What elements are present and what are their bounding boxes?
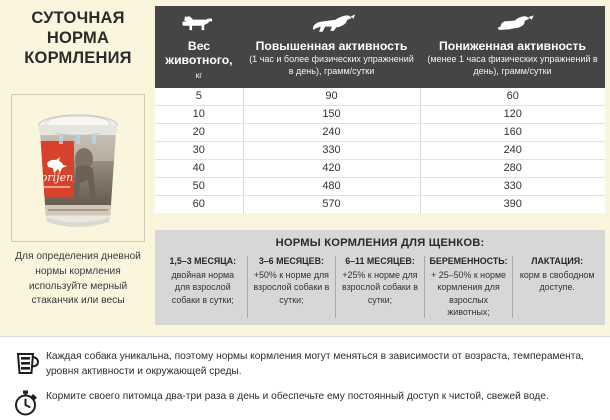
table-row: 30330240	[155, 141, 605, 159]
cell-weight: 60	[155, 195, 243, 213]
left-column: СУТОЧНАЯ НОРМА КОРМЛЕНИЯ	[0, 0, 155, 336]
dog-food-tub-icon: orijen	[26, 101, 130, 235]
puppy-norms-panel: НОРМЫ КОРМЛЕНИЯ ДЛЯ ЩЕНКОВ: 1,5–3 МЕСЯЦА…	[155, 230, 605, 325]
cell-low-activity: 120	[420, 105, 605, 123]
table-row: 10150120	[155, 105, 605, 123]
column-header-high-activity-subtitle: (1 час и более физических упражнений в д…	[247, 54, 416, 77]
puppy-norm-column: 3–6 МЕСЯЦЕВ:+50% к норме для взрослой со…	[248, 256, 337, 318]
cell-high-activity: 480	[243, 177, 420, 195]
cell-low-activity: 280	[420, 159, 605, 177]
puppy-norm-description: корм в свободном доступе.	[517, 269, 597, 294]
cell-low-activity: 160	[420, 123, 605, 141]
page-title: СУТОЧНАЯ НОРМА КОРМЛЕНИЯ	[4, 8, 152, 68]
cell-low-activity: 60	[420, 88, 605, 106]
column-header-high-activity: Повышенная активность (1 час и более физ…	[243, 6, 420, 88]
cell-high-activity: 90	[243, 88, 420, 106]
note-text-frequency: Кормите своего питомца два-три раза в де…	[46, 389, 602, 404]
puppy-norm-age-label: ЛАКТАЦИЯ:	[517, 256, 597, 266]
puppy-norm-age-label: 1,5–3 МЕСЯЦА:	[163, 256, 243, 266]
puppy-norm-column: 6–11 МЕСЯЦЕВ:+25% к норме для взрослой с…	[336, 256, 425, 318]
stopwatch-icon	[12, 389, 40, 417]
svg-text:orijen: orijen	[41, 171, 73, 184]
running-dog-icon	[308, 12, 356, 36]
table-row: 60570390	[155, 195, 605, 213]
measuring-cup-icon	[12, 349, 40, 377]
column-header-weight-title: Вес животного,	[159, 39, 239, 68]
puppy-norms-title: НОРМЫ КОРМЛЕНИЯ ДЛЯ ЩЕНКОВ:	[155, 230, 605, 249]
standing-dog-icon	[179, 12, 219, 36]
puppy-norms-columns: 1,5–3 МЕСЯЦА:двойная норма для взрослой …	[155, 256, 605, 318]
column-header-low-activity-subtitle: (менее 1 часа физических упражнений в де…	[424, 54, 601, 77]
note-row-uniqueness: Каждая собака уникальна, поэтому нормы к…	[12, 349, 602, 380]
feeding-norms-table: Вес животного, кг Повышенная активность …	[155, 6, 605, 213]
footer-notes: Каждая собака уникальна, поэтому нормы к…	[0, 336, 610, 420]
cell-weight: 50	[155, 177, 243, 195]
top-panel: СУТОЧНАЯ НОРМА КОРМЛЕНИЯ	[0, 0, 610, 336]
column-header-low-activity-title: Пониженная активность	[424, 39, 601, 53]
measuring-instruction-text: Для определения дневной нормы кормления …	[6, 250, 150, 309]
cell-high-activity: 420	[243, 159, 420, 177]
cell-weight: 20	[155, 123, 243, 141]
table-row: 40420280	[155, 159, 605, 177]
cell-weight: 5	[155, 88, 243, 106]
puppy-norm-column: 1,5–3 МЕСЯЦА:двойная норма для взрослой …	[159, 256, 248, 318]
cell-low-activity: 390	[420, 195, 605, 213]
puppy-norm-column: БЕРЕМЕННОСТЬ:+ 25–50% к норме кормления …	[425, 256, 514, 318]
puppy-norm-age-label: БЕРЕМЕННОСТЬ:	[429, 256, 509, 266]
cell-low-activity: 330	[420, 177, 605, 195]
feeding-norms-table-wrapper: Вес животного, кг Повышенная активность …	[155, 6, 605, 213]
puppy-norm-age-label: 3–6 МЕСЯЦЕВ:	[252, 256, 332, 266]
table-header-row: Вес животного, кг Повышенная активность …	[155, 6, 605, 88]
table-row: 59060	[155, 88, 605, 106]
cell-low-activity: 240	[420, 141, 605, 159]
column-header-weight-unit: кг	[159, 70, 239, 80]
column-header-weight: Вес животного, кг	[155, 6, 243, 88]
column-header-high-activity-title: Повышенная активность	[247, 39, 416, 53]
table-row: 20240160	[155, 123, 605, 141]
puppy-norm-column: ЛАКТАЦИЯ:корм в свободном доступе.	[513, 256, 601, 318]
lying-dog-icon	[489, 12, 537, 36]
column-header-low-activity: Пониженная активность (менее 1 часа физи…	[420, 6, 605, 88]
product-image-frame: orijen	[11, 94, 145, 242]
cell-high-activity: 570	[243, 195, 420, 213]
table-row: 50480330	[155, 177, 605, 195]
puppy-norm-age-label: 6–11 МЕСЯЦЕВ:	[340, 256, 420, 266]
cell-weight: 30	[155, 141, 243, 159]
note-row-frequency: Кормите своего питомца два-три раза в де…	[12, 389, 602, 417]
puppy-norm-description: +25% к норме для взрослой собаки в сутки…	[340, 269, 420, 306]
feeding-guide-poster: СУТОЧНАЯ НОРМА КОРМЛЕНИЯ	[0, 0, 610, 420]
cell-high-activity: 150	[243, 105, 420, 123]
puppy-norm-description: +50% к норме для взрослой собаки в сутки…	[252, 269, 332, 306]
cell-high-activity: 240	[243, 123, 420, 141]
puppy-norm-description: + 25–50% к норме кормления для взрослых …	[429, 269, 509, 318]
cell-weight: 40	[155, 159, 243, 177]
cell-weight: 10	[155, 105, 243, 123]
table-body: 5906010150120202401603033024040420280504…	[155, 88, 605, 213]
cell-high-activity: 330	[243, 141, 420, 159]
note-text-uniqueness: Каждая собака уникальна, поэтому нормы к…	[46, 349, 602, 380]
puppy-norm-description: двойная норма для взрослой собаки в сутк…	[163, 269, 243, 306]
